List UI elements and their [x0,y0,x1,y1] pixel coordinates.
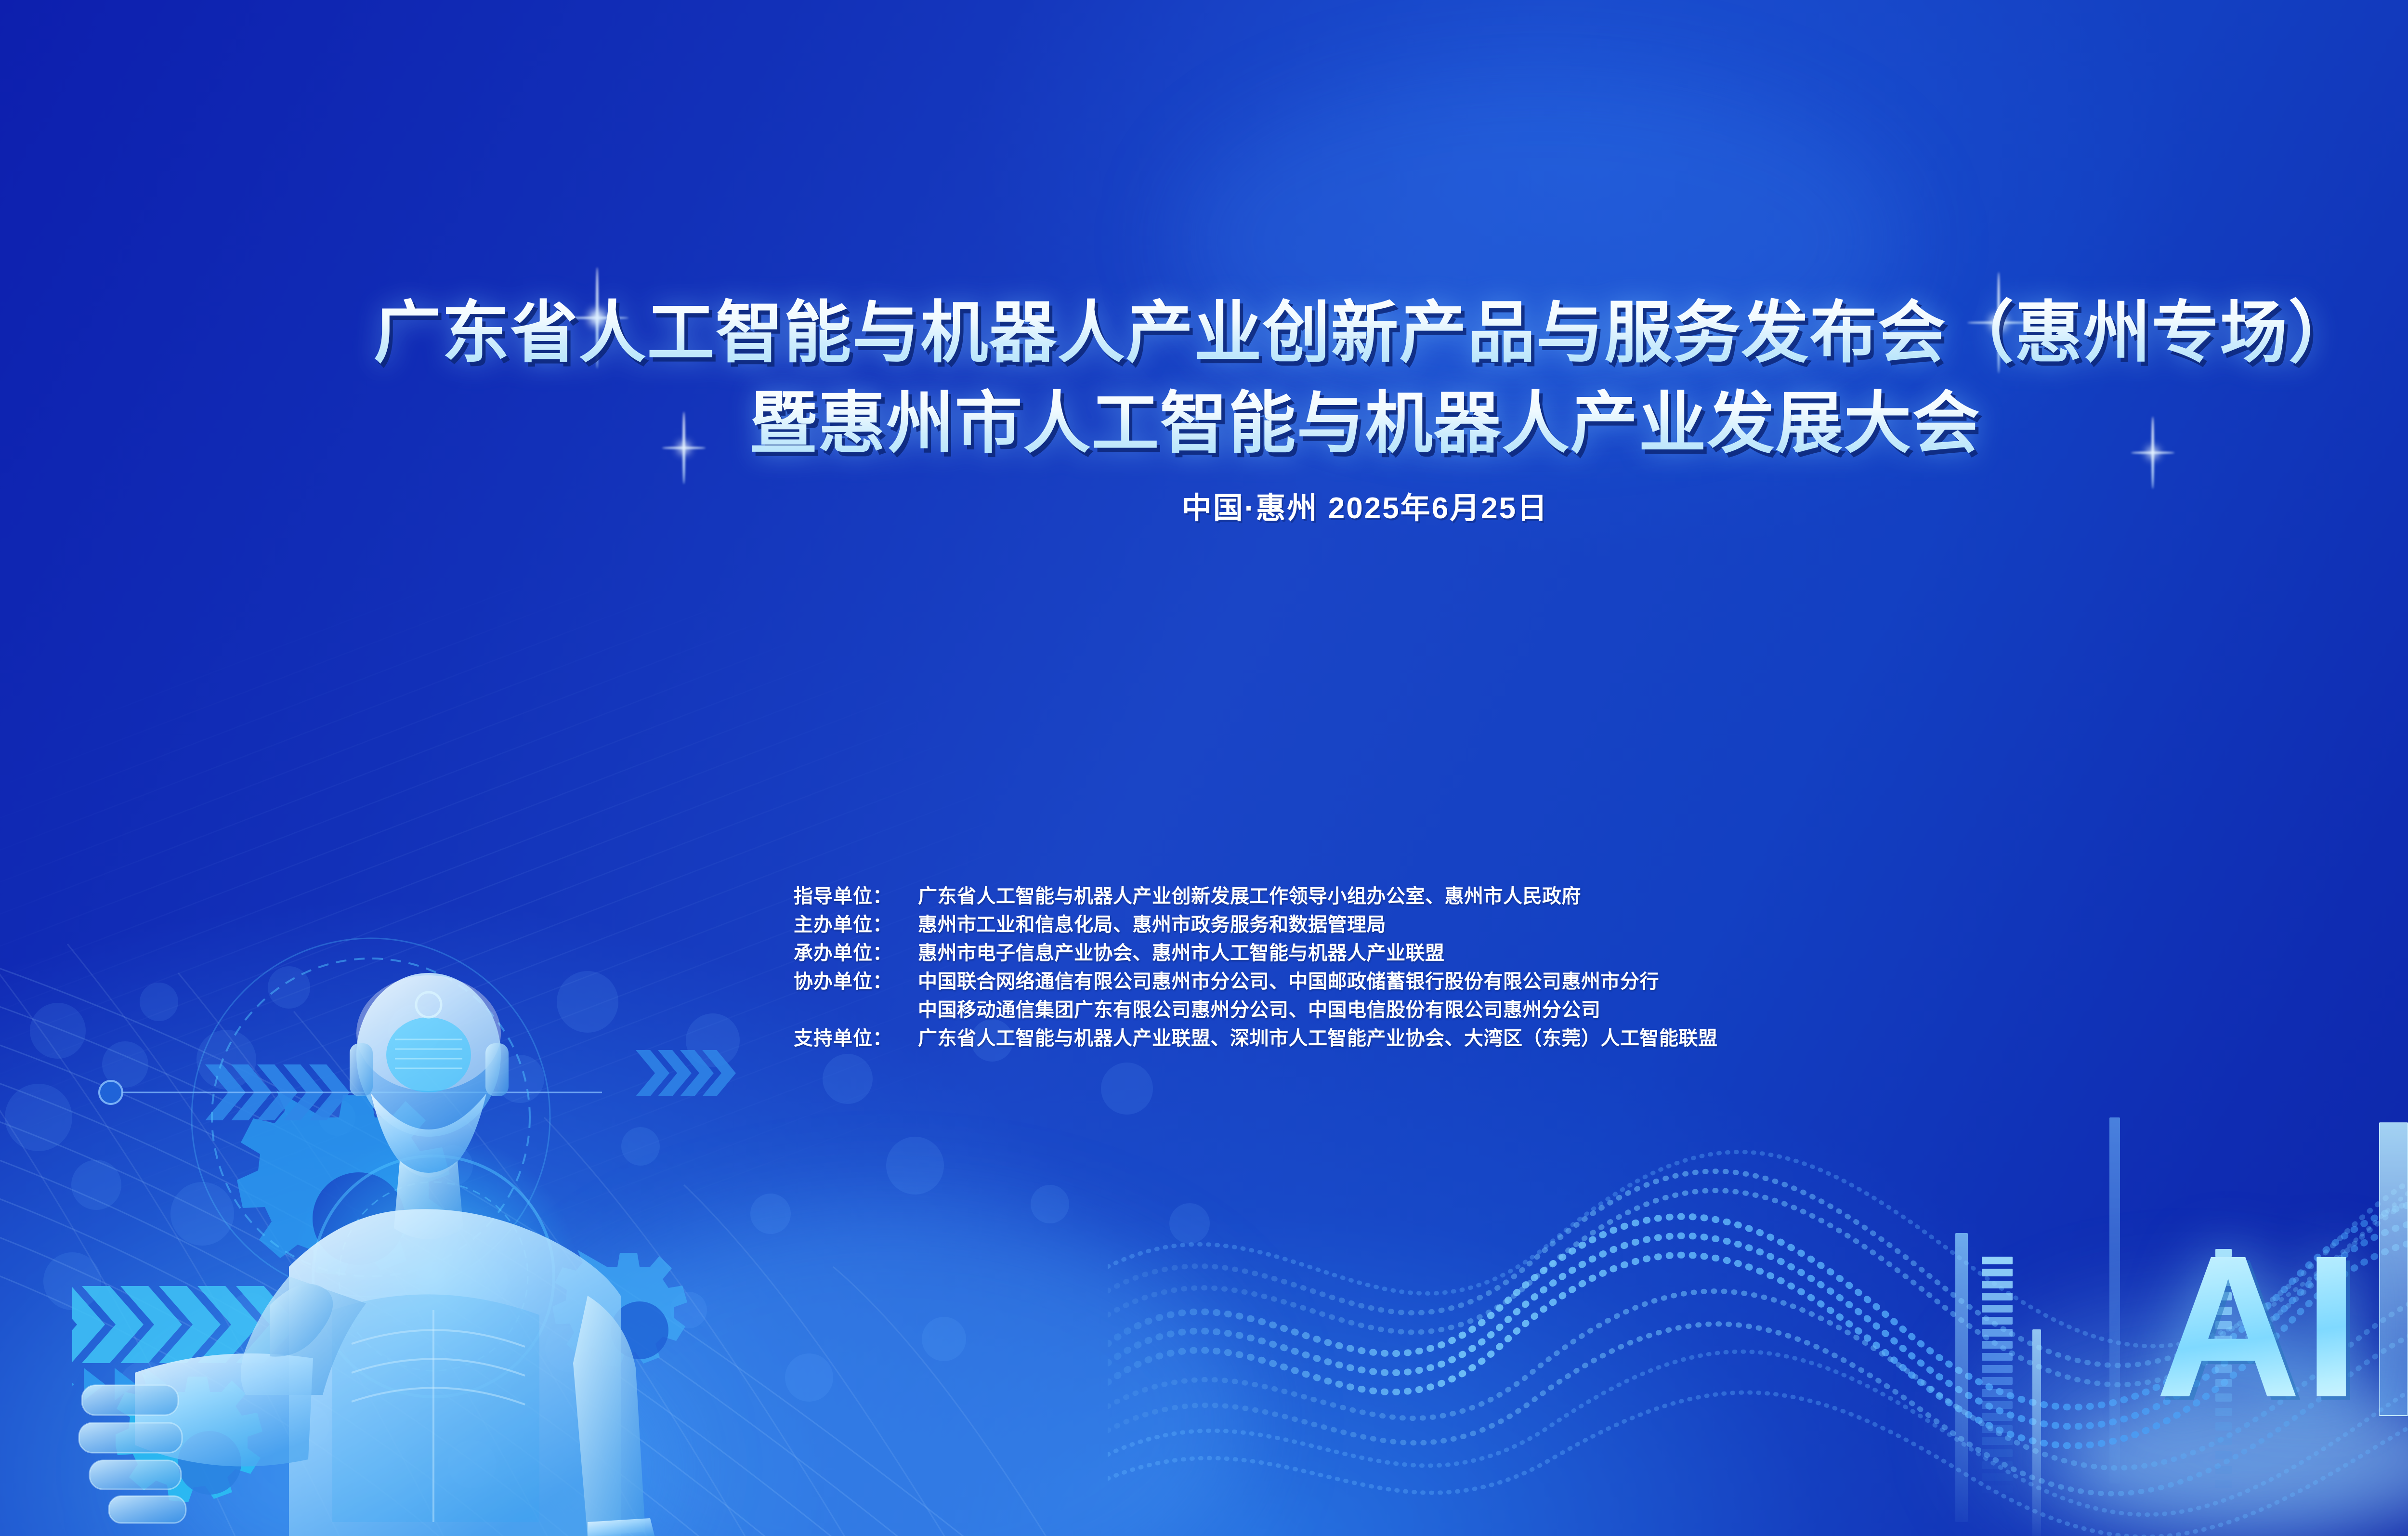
glass-bar [2379,1122,2408,1416]
organizer-value: 惠州市工业和信息化局、惠州市政务服务和数据管理局 [918,909,1386,937]
organizer-value: 广东省人工智能与机器人产业联盟、深圳市人工智能产业协会、大湾区（东莞）人工智能联… [918,1023,1718,1050]
organizer-row-continuation: 中国移动通信集团广东有限公司惠州分公司、中国电信股份有限公司惠州分公司 [794,994,1718,1023]
organizer-row: 指导单位： 广东省人工智能与机器人产业创新发展工作领导小组办公室、惠州市人民政府 [794,880,1718,909]
organizer-value: 惠州市电子信息产业协会、惠州市人工智能与机器人产业联盟 [918,937,1445,965]
title-line-1: 广东省人工智能与机器人产业创新产品与服务发布会（惠州专场） [0,289,2408,377]
organizer-label: 协办单位： [794,966,918,994]
ai-logo: AI [2155,1226,2361,1428]
glass-bar [2032,1329,2041,1536]
organizer-row: 主办单位： 惠州市工业和信息化局、惠州市政务服务和数据管理局 [794,909,1718,937]
organizer-label: 承办单位： [794,937,918,965]
glass-bar [1955,1233,1968,1522]
organizer-value: 中国移动通信集团广东有限公司惠州分公司、中国电信股份有限公司惠州分公司 [918,994,1601,1022]
organizer-value: 广东省人工智能与机器人产业创新发展工作领导小组办公室、惠州市人民政府 [918,880,1581,908]
organizer-row: 承办单位： 惠州市电子信息产业协会、惠州市人工智能与机器人产业联盟 [794,937,1718,966]
poster-canvas: AI 广东省人工智能与机器人产业创新产品与服务发布会（惠州专场） 暨惠州市人工智… [0,0,2408,1536]
organizer-row: 支持单位： 广东省人工智能与机器人产业联盟、深圳市人工智能产业协会、大湾区（东莞… [794,1023,1718,1051]
equalizer-bars [1982,1007,2013,1493]
organizer-value: 中国联合网络通信有限公司惠州市分公司、中国邮政储蓄银行股份有限公司惠州市分行 [918,966,1659,994]
title-block: 广东省人工智能与机器人产业创新产品与服务发布会（惠州专场） 暨惠州市人工智能与机… [0,289,2408,527]
organizer-list: 指导单位： 广东省人工智能与机器人产业创新发展工作领导小组办公室、惠州市人民政府… [794,880,1718,1051]
organizer-row: 协办单位： 中国联合网络通信有限公司惠州市分公司、中国邮政储蓄银行股份有限公司惠… [794,966,1718,994]
organizer-label: 主办单位： [794,909,918,937]
organizer-label: 支持单位： [794,1023,918,1050]
organizer-label: 指导单位： [794,880,918,908]
title-line-2: 暨惠州市人工智能与机器人产业发展大会 [0,380,2408,467]
glass-bar [2109,1117,2120,1483]
event-date-location: 中国·惠州 2025年6月25日 [0,484,2408,527]
